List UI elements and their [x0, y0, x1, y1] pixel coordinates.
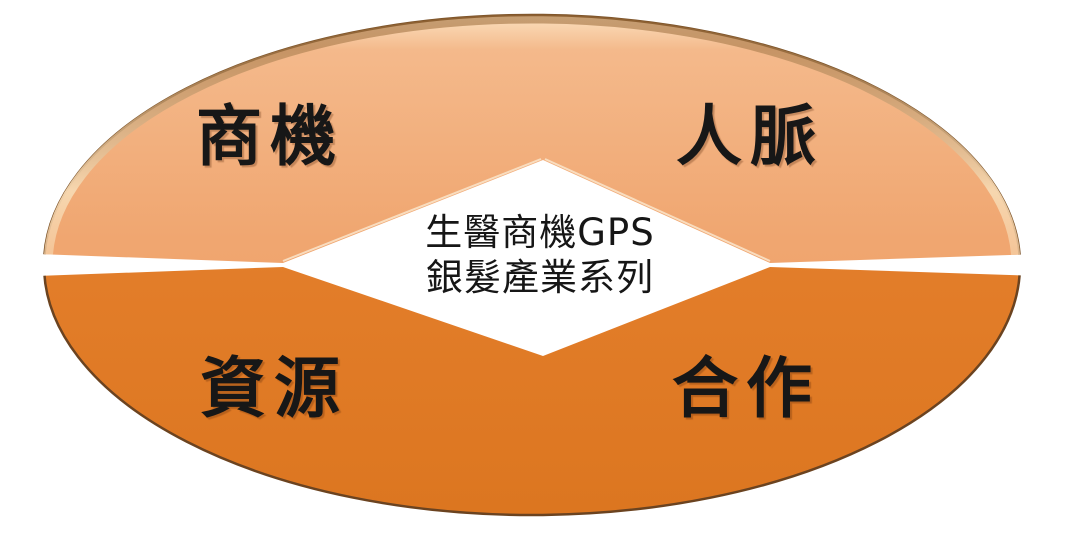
center-title-line-1: 生醫商機GPS	[355, 210, 725, 255]
segment-label-resource: 資源	[200, 356, 348, 422]
diagram-canvas: 商機 人脈 資源 合作 生醫商機GPS 銀髮產業系列	[0, 0, 1080, 540]
center-title-line-2: 銀髮產業系列	[355, 255, 725, 300]
segment-label-cooperation: 合作	[672, 356, 820, 422]
segment-label-opportunity: 商機	[196, 104, 344, 170]
segment-label-network: 人脈	[676, 104, 824, 170]
center-title-block: 生醫商機GPS 銀髮產業系列	[355, 210, 725, 300]
